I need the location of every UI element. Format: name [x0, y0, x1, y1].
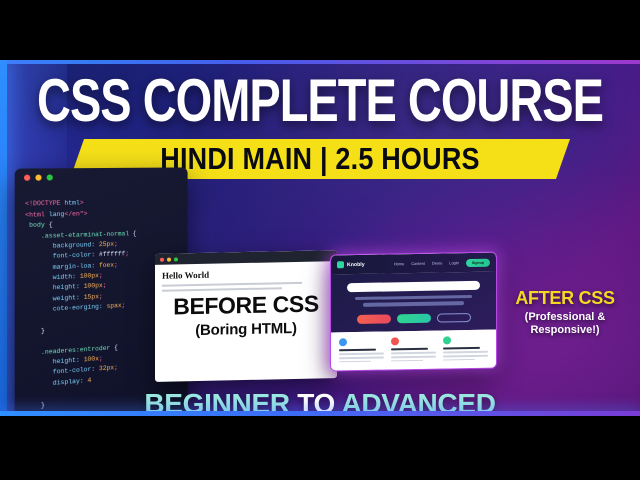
thumbnail-canvas: CSS COMPLETE COURSE HINDI MAIN | 2.5 HOU…: [0, 60, 640, 416]
tagline-part-1: BEGINNER: [144, 388, 297, 416]
code-editor-window-dots: [24, 174, 53, 180]
before-css-panel: Hello World BEFORE CSS(Boring HTML): [155, 250, 337, 382]
after-css-subheading: (Professional & Responsive!): [495, 311, 635, 337]
mockup-card-line: [443, 351, 488, 353]
mockup-logo-icon: [337, 261, 344, 268]
mockup-logo: Knobly: [337, 261, 365, 268]
after-css-heading: AFTER CSS: [495, 288, 635, 309]
mockup-card-line: [339, 353, 384, 355]
mockup-card-line: [339, 361, 371, 363]
mockup-nav-link-3[interactable]: Login: [449, 260, 459, 265]
mockup-hero-button-primary[interactable]: [357, 314, 391, 324]
mockup-card-row: [331, 330, 496, 371]
mockup-card: [391, 337, 436, 370]
mockup-card-dot-icon: [443, 336, 451, 344]
mockup-card: [339, 338, 384, 371]
mockup-nav-link-0[interactable]: Home: [394, 261, 404, 266]
mockup-nav-links: Home Content Demo Login Signup: [394, 258, 490, 268]
after-css-mockup: Knobly Home Content Demo Login Signup: [330, 252, 497, 372]
tagline-part-2: TO: [297, 388, 335, 416]
tagline: BEGINNER TO ADVANCED: [0, 388, 640, 416]
mockup-logo-text: Knobly: [347, 261, 365, 267]
mockup-card-title: [391, 348, 428, 351]
tagline-part-3: ADVANCED: [335, 388, 496, 416]
before-css-sublabel: (Boring HTML): [155, 319, 337, 340]
after-css-callout: AFTER CSS (Professional & Responsive!): [495, 288, 635, 337]
mockup-card-line: [391, 356, 436, 358]
before-heading: Hello World: [162, 267, 337, 281]
before-body-line-1: [162, 282, 302, 287]
mockup-hero-sub-1: [355, 295, 472, 300]
page-title: CSS COMPLETE COURSE: [0, 70, 640, 130]
mockup-nav-link-1[interactable]: Content: [411, 261, 425, 266]
mockup-signup-button[interactable]: Signup: [466, 258, 490, 266]
mockup-hero-button-secondary[interactable]: [397, 313, 431, 323]
mockup-hero-title-bar: [347, 281, 480, 292]
mockup-card-title: [339, 349, 376, 352]
mockup-nav-link-2[interactable]: Demo: [432, 260, 442, 265]
before-css-label: BEFORE CSS(Boring HTML): [155, 290, 337, 340]
subtitle-banner-text: HINDI MAIN | 2.5 HOURS: [160, 142, 480, 177]
mockup-card-line: [443, 355, 488, 357]
mockup-card-line: [339, 357, 384, 359]
mockup-hero-buttons: [347, 313, 480, 324]
top-glow-bar: [0, 60, 640, 64]
mockup-card-line: [391, 352, 436, 354]
mockup-card-title: [443, 347, 480, 350]
mockup-card-dot-icon: [339, 338, 347, 346]
mockup-card-line: [443, 359, 475, 361]
mockup-hero: [331, 272, 496, 333]
mockup-card: [443, 336, 488, 369]
mockup-card-line: [391, 360, 423, 362]
mockup-hero-button-outline[interactable]: [437, 313, 471, 323]
mockup-card-dot-icon: [391, 337, 399, 345]
mockup-hero-sub-2: [363, 302, 464, 307]
